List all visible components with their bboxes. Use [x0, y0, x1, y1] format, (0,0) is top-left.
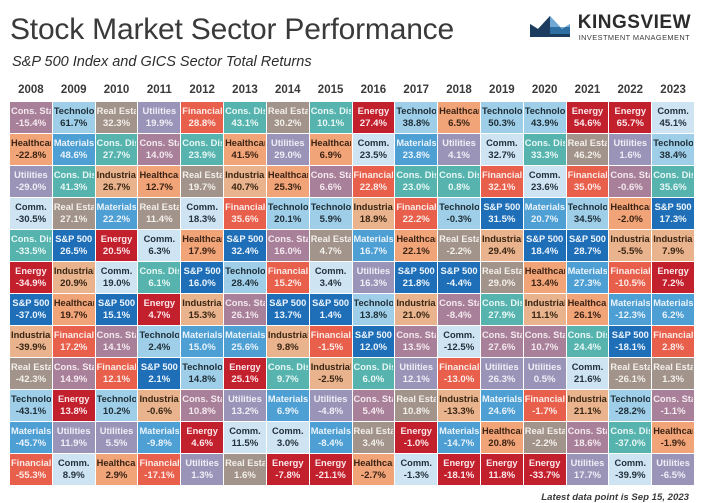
cell-return-value: 41.3%	[54, 182, 94, 193]
cell-2018-rank8[interactable]: Comm.-12.5%	[438, 326, 480, 357]
cell-2022-rank6[interactable]: Financials-10.5%	[609, 262, 651, 293]
cell-return-value: 0.8%	[439, 182, 479, 193]
cell-2010-rank11[interactable]: Utilities5.5%	[96, 422, 138, 453]
cell-return-value: 3.4%	[354, 438, 394, 449]
cell-return-value: 28.7%	[568, 246, 608, 257]
cell-return-value: -13.0%	[439, 374, 479, 385]
cell-2023-rank12[interactable]: Utilities-6.5%	[652, 454, 694, 485]
cell-2020-rank3[interactable]: Comm.23.6%	[524, 166, 566, 197]
cell-2013-rank6[interactable]: Technology28.4%	[224, 262, 266, 293]
cell-2021-rank7[interactable]: Healthcare26.1%	[567, 294, 609, 325]
cell-2019-rank5[interactable]: Industrials29.4%	[481, 230, 523, 261]
cell-return-value: 4.6%	[182, 438, 222, 449]
cell-2021-rank1[interactable]: Energy54.6%	[567, 102, 609, 133]
cell-2017-rank2[interactable]: Materials23.8%	[395, 134, 437, 165]
cell-sector-label: Technology	[525, 106, 565, 117]
cell-2015-rank3[interactable]: Cons. Stap.6.6%	[310, 166, 352, 197]
cell-2017-rank1[interactable]: Technology38.8%	[395, 102, 437, 133]
cell-sector-label: Materials	[653, 298, 693, 309]
cell-return-value: -8.4%	[439, 310, 479, 321]
cell-2011-rank6[interactable]: Cons. Disc.6.1%	[138, 262, 180, 293]
cell-return-value: 6.9%	[268, 406, 308, 417]
cell-2015-rank6[interactable]: Comm.3.4%	[310, 262, 352, 293]
cell-2023-rank2[interactable]: Technology38.4%	[652, 134, 694, 165]
cell-2014-rank1[interactable]: Real Estate30.2%	[267, 102, 309, 133]
cell-2011-rank11[interactable]: Materials-9.8%	[138, 422, 180, 453]
cell-2011-rank7[interactable]: Energy4.7%	[138, 294, 180, 325]
cell-return-value: -33.7%	[525, 470, 565, 481]
cell-return-value: -21.1%	[311, 470, 351, 481]
cell-2009-rank7[interactable]: Healthcare19.7%	[53, 294, 95, 325]
cell-2023-rank11[interactable]: Healthcare-1.9%	[652, 422, 694, 453]
cell-sector-label: Cons. Stap.	[268, 234, 308, 245]
cell-2019-rank11[interactable]: Healthcare20.8%	[481, 422, 523, 453]
cell-2013-rank12[interactable]: Real Estate1.6%	[224, 454, 266, 485]
cell-2022-rank8[interactable]: S&P 500-18.1%	[609, 326, 651, 357]
cell-2009-rank12[interactable]: Comm.8.9%	[53, 454, 95, 485]
cell-2014-rank3[interactable]: Healthcare25.3%	[267, 166, 309, 197]
cell-sector-label: Financials	[653, 330, 693, 341]
cell-2011-rank8[interactable]: Technology2.4%	[138, 326, 180, 357]
cell-2011-rank12[interactable]: Financials-17.1%	[138, 454, 180, 485]
cell-2023-rank7[interactable]: Materials6.2%	[652, 294, 694, 325]
cell-sector-label: Real Estate	[525, 426, 565, 437]
cell-return-value: -22.8%	[11, 150, 51, 161]
cell-sector-label: Utilities	[653, 458, 693, 469]
cell-2012-rank1[interactable]: Financials28.8%	[181, 102, 223, 133]
cell-2023-rank5[interactable]: Industrials7.9%	[652, 230, 694, 261]
cell-2008-rank7[interactable]: S&P 500-37.0%	[10, 294, 52, 325]
cell-return-value: 27.9%	[482, 310, 522, 321]
cell-2020-rank11[interactable]: Real Estate-2.2%	[524, 422, 566, 453]
cell-2018-rank3[interactable]: Cons. Disc.0.8%	[438, 166, 480, 197]
cell-2008-rank12[interactable]: Financials-55.3%	[10, 454, 52, 485]
cell-return-value: 9.7%	[268, 374, 308, 385]
cell-2016-rank6[interactable]: Utilities16.3%	[353, 262, 395, 293]
cell-sector-label: S&P 500	[610, 330, 650, 341]
cell-2012-rank9[interactable]: Technology14.8%	[181, 358, 223, 389]
cell-2019-rank9[interactable]: Utilities26.3%	[481, 358, 523, 389]
year-header-2019: 2019	[481, 83, 523, 101]
cell-sector-label: Materials	[439, 426, 479, 437]
cell-2013-rank2[interactable]: Healthcare41.5%	[224, 134, 266, 165]
cell-sector-label: Technology	[354, 298, 394, 309]
cell-sector-label: Technology	[11, 394, 51, 405]
cell-2013-rank10[interactable]: Utilities13.2%	[224, 390, 266, 421]
cell-2022-rank11[interactable]: Cons. Disc.-37.0%	[609, 422, 651, 453]
cell-2014-rank4[interactable]: Technology20.1%	[267, 198, 309, 229]
cell-2008-rank8[interactable]: Industrials-39.9%	[10, 326, 52, 357]
cell-2010-rank5[interactable]: Energy20.5%	[96, 230, 138, 261]
cell-2022-rank1[interactable]: Energy65.7%	[609, 102, 651, 133]
cell-2009-rank9[interactable]: Cons. Stap.14.9%	[53, 358, 95, 389]
cell-2022-rank12[interactable]: Comm.-39.9%	[609, 454, 651, 485]
cell-2019-rank6[interactable]: Real Estate29.0%	[481, 262, 523, 293]
cell-return-value: 15.1%	[97, 310, 137, 321]
cell-sector-label: Cons. Disc.	[610, 426, 650, 437]
cell-return-value: 20.1%	[268, 214, 308, 225]
cell-sector-label: Cons. Stap.	[354, 394, 394, 405]
cell-2011-rank4[interactable]: Real Estate11.4%	[138, 198, 180, 229]
cell-2017-rank9[interactable]: Utilities12.1%	[395, 358, 437, 389]
cell-return-value: 23.5%	[354, 150, 394, 161]
cell-2021-rank12[interactable]: Utilities17.7%	[567, 454, 609, 485]
cell-2009-rank8[interactable]: Financials17.2%	[53, 326, 95, 357]
cell-return-value: -4.4%	[439, 278, 479, 289]
cell-return-value: -37.0%	[11, 310, 51, 321]
table-row: Energy-34.9%Industrials20.9%Comm.19.0%Co…	[10, 262, 694, 293]
cell-2018-rank7[interactable]: Cons. Stap.-8.4%	[438, 294, 480, 325]
cell-2019-rank12[interactable]: Energy11.8%	[481, 454, 523, 485]
cell-sector-label: Energy	[139, 298, 179, 309]
cell-2014-rank11[interactable]: Comm.3.0%	[267, 422, 309, 453]
cell-sector-label: Healthcare	[182, 234, 222, 245]
cell-2022-rank10[interactable]: Technology-28.2%	[609, 390, 651, 421]
cell-return-value: 5.5%	[97, 438, 137, 449]
cell-2023-rank9[interactable]: Real Estate1.3%	[652, 358, 694, 389]
cell-2009-rank3[interactable]: Cons. Disc.41.3%	[53, 166, 95, 197]
cell-2016-rank2[interactable]: Comm.23.5%	[353, 134, 395, 165]
cell-return-value: 28.4%	[225, 278, 265, 289]
cell-sector-label: Cons. Disc.	[482, 298, 522, 309]
cell-2021-rank4[interactable]: Technology34.5%	[567, 198, 609, 229]
cell-2021-rank8[interactable]: Cons. Disc.24.4%	[567, 326, 609, 357]
cell-2018-rank5[interactable]: Real Estate-2.2%	[438, 230, 480, 261]
cell-2008-rank9[interactable]: Real Estate-42.3%	[10, 358, 52, 389]
cell-2010-rank1[interactable]: Real Estate32.3%	[96, 102, 138, 133]
cell-2019-rank2[interactable]: Comm.32.7%	[481, 134, 523, 165]
cell-2013-rank5[interactable]: S&P 50032.4%	[224, 230, 266, 261]
cell-sector-label: Utilities	[182, 458, 222, 469]
cell-2010-rank6[interactable]: Comm.19.0%	[96, 262, 138, 293]
cell-2013-rank4[interactable]: Financials35.6%	[224, 198, 266, 229]
cell-2018-rank9[interactable]: Financials-13.0%	[438, 358, 480, 389]
cell-sector-label: Financials	[268, 266, 308, 277]
cell-2011-rank5[interactable]: Comm.6.3%	[138, 230, 180, 261]
cell-2012-rank8[interactable]: Materials15.0%	[181, 326, 223, 357]
cell-2019-rank3[interactable]: Financials32.1%	[481, 166, 523, 197]
cell-2019-rank4[interactable]: S&P 50031.5%	[481, 198, 523, 229]
cell-2017-rank3[interactable]: Cons. Disc.23.0%	[395, 166, 437, 197]
cell-2022-rank9[interactable]: Real Estate-26.1%	[609, 358, 651, 389]
cell-return-value: 48.6%	[54, 150, 94, 161]
cell-2022-rank7[interactable]: Materials-12.3%	[609, 294, 651, 325]
cell-2011-rank3[interactable]: Healthcare12.7%	[138, 166, 180, 197]
cell-2020-rank7[interactable]: Industrials11.1%	[524, 294, 566, 325]
cell-2020-rank2[interactable]: Cons. Disc.33.3%	[524, 134, 566, 165]
cell-2016-rank1[interactable]: Energy27.4%	[353, 102, 395, 133]
cell-2020-rank9[interactable]: Utilities0.5%	[524, 358, 566, 389]
cell-2008-rank2[interactable]: Healthcare-22.8%	[10, 134, 52, 165]
cell-return-value: 22.8%	[354, 182, 394, 193]
cell-2019-rank1[interactable]: Technology50.3%	[481, 102, 523, 133]
cell-return-value: 10.2%	[97, 406, 137, 417]
cell-return-value: -33.5%	[11, 246, 51, 257]
cell-2022-rank4[interactable]: Healthcare-2.0%	[609, 198, 651, 229]
cell-2018-rank4[interactable]: Technology-0.3%	[438, 198, 480, 229]
cell-2015-rank11[interactable]: Materials-8.4%	[310, 422, 352, 453]
table-row: Industrials-39.9%Financials17.2%Cons. St…	[10, 326, 694, 357]
cell-2023-rank1[interactable]: Comm.45.1%	[652, 102, 694, 133]
cell-2013-rank7[interactable]: Cons. Stap.26.1%	[224, 294, 266, 325]
cell-2009-rank5[interactable]: S&P 50026.5%	[53, 230, 95, 261]
cell-2011-rank1[interactable]: Utilities19.9%	[138, 102, 180, 133]
cell-sector-label: Cons. Stap.	[225, 298, 265, 309]
cell-sector-label: Industrials	[11, 330, 51, 341]
cell-2010-rank4[interactable]: Materials22.2%	[96, 198, 138, 229]
cell-sector-label: Cons. Stap.	[653, 394, 693, 405]
cell-sector-label: Real Estate	[139, 202, 179, 213]
cell-2009-rank1[interactable]: Technology61.7%	[53, 102, 95, 133]
cell-2022-rank2[interactable]: Utilities1.6%	[609, 134, 651, 165]
cell-return-value: 19.7%	[54, 310, 94, 321]
cell-2010-rank9[interactable]: Financials12.1%	[96, 358, 138, 389]
cell-sector-label: Real Estate	[653, 362, 693, 373]
cell-2012-rank12[interactable]: Utilities1.3%	[181, 454, 223, 485]
cell-2008-rank11[interactable]: Materials-45.7%	[10, 422, 52, 453]
cell-2014-rank2[interactable]: Utilities29.0%	[267, 134, 309, 165]
cell-2012-rank5[interactable]: Healthcare17.9%	[181, 230, 223, 261]
cell-2009-rank6[interactable]: Industrials20.9%	[53, 262, 95, 293]
cell-2012-rank4[interactable]: Comm.18.3%	[181, 198, 223, 229]
cell-2017-rank4[interactable]: Financials22.2%	[395, 198, 437, 229]
cell-2014-rank7[interactable]: S&P 50013.7%	[267, 294, 309, 325]
cell-2021-rank10[interactable]: Industrials21.1%	[567, 390, 609, 421]
cell-sector-label: Healthcare	[97, 458, 137, 469]
cell-2015-rank7[interactable]: S&P 5001.4%	[310, 294, 352, 325]
cell-2022-rank5[interactable]: Industrials-5.5%	[609, 230, 651, 261]
cell-return-value: 65.7%	[610, 118, 650, 129]
cell-2016-rank11[interactable]: Real Estate3.4%	[353, 422, 395, 453]
cell-2013-rank11[interactable]: Comm.11.5%	[224, 422, 266, 453]
cell-2012-rank2[interactable]: Cons. Disc.23.9%	[181, 134, 223, 165]
cell-2013-rank1[interactable]: Cons. Disc.43.1%	[224, 102, 266, 133]
cell-2018-rank10[interactable]: Industrials-13.3%	[438, 390, 480, 421]
cell-2012-rank10[interactable]: Cons. Stap.10.8%	[181, 390, 223, 421]
cell-2009-rank4[interactable]: Real Estate27.1%	[53, 198, 95, 229]
cell-sector-label: Comm.	[525, 170, 565, 181]
cell-return-value: 17.2%	[54, 342, 94, 353]
cell-2015-rank12[interactable]: Energy-21.1%	[310, 454, 352, 485]
cell-sector-label: Financials	[11, 458, 51, 469]
cell-2023-rank10[interactable]: Cons. Stap.-1.1%	[652, 390, 694, 421]
cell-2019-rank8[interactable]: Cons. Stap.27.6%	[481, 326, 523, 357]
cell-sector-label: Cons. Disc.	[525, 138, 565, 149]
cell-2015-rank9[interactable]: Industrials-2.5%	[310, 358, 352, 389]
cell-2015-rank2[interactable]: Healthcare6.9%	[310, 134, 352, 165]
cell-2017-rank11[interactable]: Energy-1.0%	[395, 422, 437, 453]
cell-sector-label: Materials	[54, 138, 94, 149]
cell-2013-rank9[interactable]: Energy25.1%	[224, 358, 266, 389]
cell-2019-rank10[interactable]: Materials24.6%	[481, 390, 523, 421]
cell-sector-label: Financials	[439, 362, 479, 373]
cell-2021-rank11[interactable]: Cons. Stap.18.6%	[567, 422, 609, 453]
cell-sector-label: Cons. Disc.	[311, 106, 351, 117]
cell-2019-rank7[interactable]: Cons. Disc.27.9%	[481, 294, 523, 325]
cell-2012-rank3[interactable]: Real Estate19.7%	[181, 166, 223, 197]
cell-2022-rank3[interactable]: Cons. Stap.-0.6%	[609, 166, 651, 197]
cell-2021-rank6[interactable]: Materials27.3%	[567, 262, 609, 293]
cell-sector-label: Comm.	[54, 458, 94, 469]
cell-2021-rank3[interactable]: Financials35.0%	[567, 166, 609, 197]
cell-2010-rank7[interactable]: S&P 50015.1%	[96, 294, 138, 325]
cell-return-value: 30.2%	[268, 118, 308, 129]
cell-2023-rank8[interactable]: Financials2.8%	[652, 326, 694, 357]
cell-2020-rank4[interactable]: Materials20.7%	[524, 198, 566, 229]
cell-2023-rank4[interactable]: S&P 50017.3%	[652, 198, 694, 229]
cell-2020-rank10[interactable]: Financials-1.7%	[524, 390, 566, 421]
cell-sector-label: Energy	[610, 106, 650, 117]
cell-return-value: 32.3%	[97, 118, 137, 129]
cell-return-value: 11.8%	[482, 470, 522, 481]
cell-2023-rank3[interactable]: Cons. Disc.35.6%	[652, 166, 694, 197]
cell-sector-label: Healthcare	[610, 202, 650, 213]
cell-2018-rank12[interactable]: Energy-18.1%	[438, 454, 480, 485]
cell-return-value: 22.1%	[396, 246, 436, 257]
cell-2015-rank5[interactable]: Real Estate4.7%	[310, 230, 352, 261]
cell-2016-rank5[interactable]: Materials16.7%	[353, 230, 395, 261]
cell-sector-label: Utilities	[139, 106, 179, 117]
cell-2016-rank7[interactable]: Technology13.8%	[353, 294, 395, 325]
cell-2009-rank2[interactable]: Materials48.6%	[53, 134, 95, 165]
cell-sector-label: Utilities	[482, 362, 522, 373]
cell-2010-rank3[interactable]: Industrials26.7%	[96, 166, 138, 197]
cell-2008-rank6[interactable]: Energy-34.9%	[10, 262, 52, 293]
cell-return-value: 43.1%	[225, 118, 265, 129]
cell-2017-rank8[interactable]: Cons. Stap.13.5%	[395, 326, 437, 357]
cell-sector-label: Technology	[54, 106, 94, 117]
cell-2010-rank12[interactable]: Healthcare2.9%	[96, 454, 138, 485]
cell-2017-rank6[interactable]: S&P 50021.8%	[395, 262, 437, 293]
cell-2017-rank5[interactable]: Healthcare22.1%	[395, 230, 437, 261]
cell-2023-rank6[interactable]: Energy7.2%	[652, 262, 694, 293]
cell-2017-rank7[interactable]: Industrials21.0%	[395, 294, 437, 325]
cell-2010-rank8[interactable]: Cons. Stap.14.1%	[96, 326, 138, 357]
cell-2015-rank4[interactable]: Technology5.9%	[310, 198, 352, 229]
cell-2020-rank5[interactable]: S&P 50018.4%	[524, 230, 566, 261]
year-header-row: 2008200920102011201220132014201520162017…	[10, 83, 694, 101]
cell-2021-rank5[interactable]: S&P 50028.7%	[567, 230, 609, 261]
cell-2008-rank3[interactable]: Utilities-29.0%	[10, 166, 52, 197]
cell-2008-rank1[interactable]: Cons. Stap.-15.4%	[10, 102, 52, 133]
cell-2018-rank6[interactable]: S&P 500-4.4%	[438, 262, 480, 293]
cell-sector-label: Real Estate	[354, 426, 394, 437]
table-header: 2008200920102011201220132014201520162017…	[10, 83, 694, 101]
cell-return-value: 19.0%	[97, 278, 137, 289]
cell-2011-rank10[interactable]: Industrials-0.6%	[138, 390, 180, 421]
cell-2017-rank12[interactable]: Comm.-1.3%	[395, 454, 437, 485]
year-header-2018: 2018	[438, 83, 480, 101]
cell-return-value: 21.1%	[568, 406, 608, 417]
cell-2018-rank11[interactable]: Materials-14.7%	[438, 422, 480, 453]
cell-2014-rank8[interactable]: Industrials9.8%	[267, 326, 309, 357]
cell-return-value: 45.1%	[653, 118, 693, 129]
cell-sector-label: Technology	[610, 394, 650, 405]
cell-2020-rank12[interactable]: Energy-33.7%	[524, 454, 566, 485]
cell-2013-rank8[interactable]: Materials25.6%	[224, 326, 266, 357]
cell-2014-rank6[interactable]: Financials15.2%	[267, 262, 309, 293]
cell-return-value: 10.8%	[396, 406, 436, 417]
cell-return-value: -5.5%	[610, 246, 650, 257]
cell-sector-label: Energy	[54, 394, 94, 405]
cell-2016-rank4[interactable]: Industrials18.9%	[353, 198, 395, 229]
cell-return-value: -17.1%	[139, 470, 179, 481]
cell-2009-rank11[interactable]: Utilities11.9%	[53, 422, 95, 453]
cell-2016-rank8[interactable]: S&P 50012.0%	[353, 326, 395, 357]
cell-2015-rank10[interactable]: Utilities-4.8%	[310, 390, 352, 421]
cell-2008-rank5[interactable]: Cons. Disc.-33.5%	[10, 230, 52, 261]
cell-2012-rank7[interactable]: Industrials15.3%	[181, 294, 223, 325]
cell-return-value: 11.9%	[54, 438, 94, 449]
cell-sector-label: S&P 500	[268, 298, 308, 309]
cell-2015-rank8[interactable]: Financials-1.5%	[310, 326, 352, 357]
cell-sector-label: Comm.	[97, 266, 137, 277]
cell-2011-rank9[interactable]: S&P 5002.1%	[138, 358, 180, 389]
cell-2012-rank6[interactable]: S&P 50016.0%	[181, 262, 223, 293]
cell-2011-rank2[interactable]: Cons. Stap.14.0%	[138, 134, 180, 165]
cell-2014-rank12[interactable]: Energy-7.8%	[267, 454, 309, 485]
cell-2020-rank1[interactable]: Technology43.9%	[524, 102, 566, 133]
cell-2010-rank10[interactable]: Technology10.2%	[96, 390, 138, 421]
cell-2021-rank2[interactable]: Real Estate46.2%	[567, 134, 609, 165]
cell-2014-rank5[interactable]: Cons. Stap.16.0%	[267, 230, 309, 261]
cell-2020-rank6[interactable]: Healthcare13.4%	[524, 262, 566, 293]
cell-sector-label: Materials	[610, 298, 650, 309]
cell-2010-rank2[interactable]: Cons. Disc.27.7%	[96, 134, 138, 165]
cell-return-value: 18.4%	[525, 246, 565, 257]
cell-return-value: -45.7%	[11, 438, 51, 449]
cell-2014-rank9[interactable]: Cons. Disc.9.7%	[267, 358, 309, 389]
cell-2018-rank2[interactable]: Utilities4.1%	[438, 134, 480, 165]
cell-2016-rank10[interactable]: Cons. Stap.5.4%	[353, 390, 395, 421]
cell-2009-rank10[interactable]: Energy13.8%	[53, 390, 95, 421]
cell-sector-label: Financials	[97, 362, 137, 373]
year-header-2013: 2013	[224, 83, 266, 101]
cell-sector-label: Utilities	[11, 170, 51, 181]
cell-sector-label: S&P 500	[97, 298, 137, 309]
cell-sector-label: Cons. Disc.	[268, 362, 308, 373]
cell-sector-label: Utilities	[311, 394, 351, 405]
cell-2016-rank12[interactable]: Healthcare-2.7%	[353, 454, 395, 485]
cell-2008-rank4[interactable]: Comm.-30.5%	[10, 198, 52, 229]
cell-2014-rank10[interactable]: Materials6.9%	[267, 390, 309, 421]
cell-2018-rank1[interactable]: Healthcare6.5%	[438, 102, 480, 133]
cell-2020-rank8[interactable]: Cons. Stap.10.7%	[524, 326, 566, 357]
cell-2008-rank10[interactable]: Technology-43.1%	[10, 390, 52, 421]
cell-return-value: 43.9%	[525, 118, 565, 129]
cell-2013-rank3[interactable]: Industrials40.7%	[224, 166, 266, 197]
cell-2016-rank9[interactable]: Cons. Disc.6.0%	[353, 358, 395, 389]
cell-2017-rank10[interactable]: Real Estate10.8%	[395, 390, 437, 421]
cell-sector-label: Technology	[396, 106, 436, 117]
year-header-2022: 2022	[609, 83, 651, 101]
cell-sector-label: Cons. Disc.	[225, 106, 265, 117]
year-header-2009: 2009	[53, 83, 95, 101]
cell-2021-rank9[interactable]: Comm.21.6%	[567, 358, 609, 389]
cell-sector-label: Real Estate	[268, 106, 308, 117]
cell-2015-rank1[interactable]: Cons. Disc.10.1%	[310, 102, 352, 133]
cell-return-value: 24.6%	[482, 406, 522, 417]
page-subtitle: S&P 500 Index and GICS Sector Total Retu…	[12, 52, 691, 72]
table-row: Materials-45.7%Utilities11.9%Utilities5.…	[10, 422, 694, 453]
cell-2016-rank3[interactable]: Financials22.8%	[353, 166, 395, 197]
cell-return-value: 0.5%	[525, 374, 565, 385]
cell-return-value: 28.8%	[182, 118, 222, 129]
cell-2012-rank11[interactable]: Energy4.6%	[181, 422, 223, 453]
cell-sector-label: Industrials	[568, 394, 608, 405]
cell-sector-label: Cons. Stap.	[568, 426, 608, 437]
cell-return-value: 40.7%	[225, 182, 265, 193]
